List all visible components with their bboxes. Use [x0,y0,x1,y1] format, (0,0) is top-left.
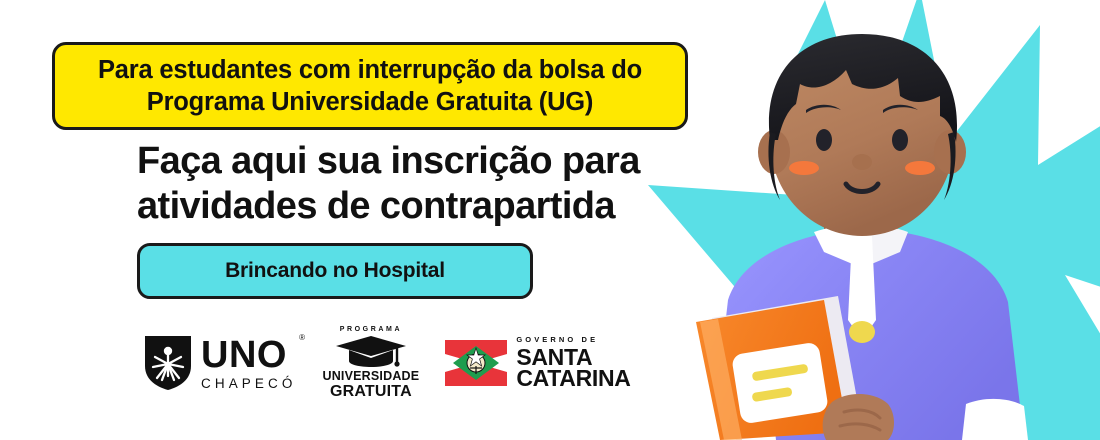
pug-gratuita-label: GRATUITA [330,384,412,400]
nose [852,154,872,170]
banner-content: Para estudantes com interrupção da bolsa… [0,0,700,440]
pug-universidade-label: UNIVERSIDADE [322,370,419,383]
registered-trademark-icon: ® [299,334,305,342]
eyebrow-callout-box: Para estudantes com interrupção da bolsa… [52,42,688,130]
sc-catarina-label: CATARINA [516,367,630,390]
brincando-no-hospital-button[interactable]: Brincando no Hospital [137,243,533,299]
eye-left [816,129,832,151]
pug-programa-label: PROGRAMA [340,326,402,333]
book-label [731,342,829,425]
santa-catarina-flag-icon [445,340,507,386]
uno-wordmark-bottom: CHAPECÓ [201,377,296,391]
eye-right [892,129,908,151]
cta-button-label: Brincando no Hospital [225,259,445,283]
blush-left [789,161,819,175]
sleeve-cuff-right [962,399,1028,440]
eyebrow-callout-text: Para estudantes com interrupção da bolsa… [65,54,675,118]
page-title: Faça aqui sua inscrição para atividades … [137,139,677,229]
governo-santa-catarina-logo: GOVERNO DE SANTA CATARINA [445,336,630,391]
logo-strip: UNO® CHAPECÓ PROGRAMA UNIVERSIDADE GRATU… [145,326,631,400]
promo-banner: Para estudantes com interrupção da bolsa… [0,0,1100,440]
uno-wordmark-top: UNO® [201,336,296,374]
sc-governo-label: GOVERNO DE [516,336,630,344]
programa-universidade-gratuita-logo: PROGRAMA UNIVERSIDADE GRATUITA [322,326,419,400]
uno-chapeco-logo: UNO® CHAPECÓ [145,336,296,391]
tie-knot [849,321,875,343]
blush-right [905,161,935,175]
uno-wordmark-top-text: UNO [201,334,287,376]
graduation-cap-icon [335,335,407,367]
shield-burst-icon [145,336,191,390]
